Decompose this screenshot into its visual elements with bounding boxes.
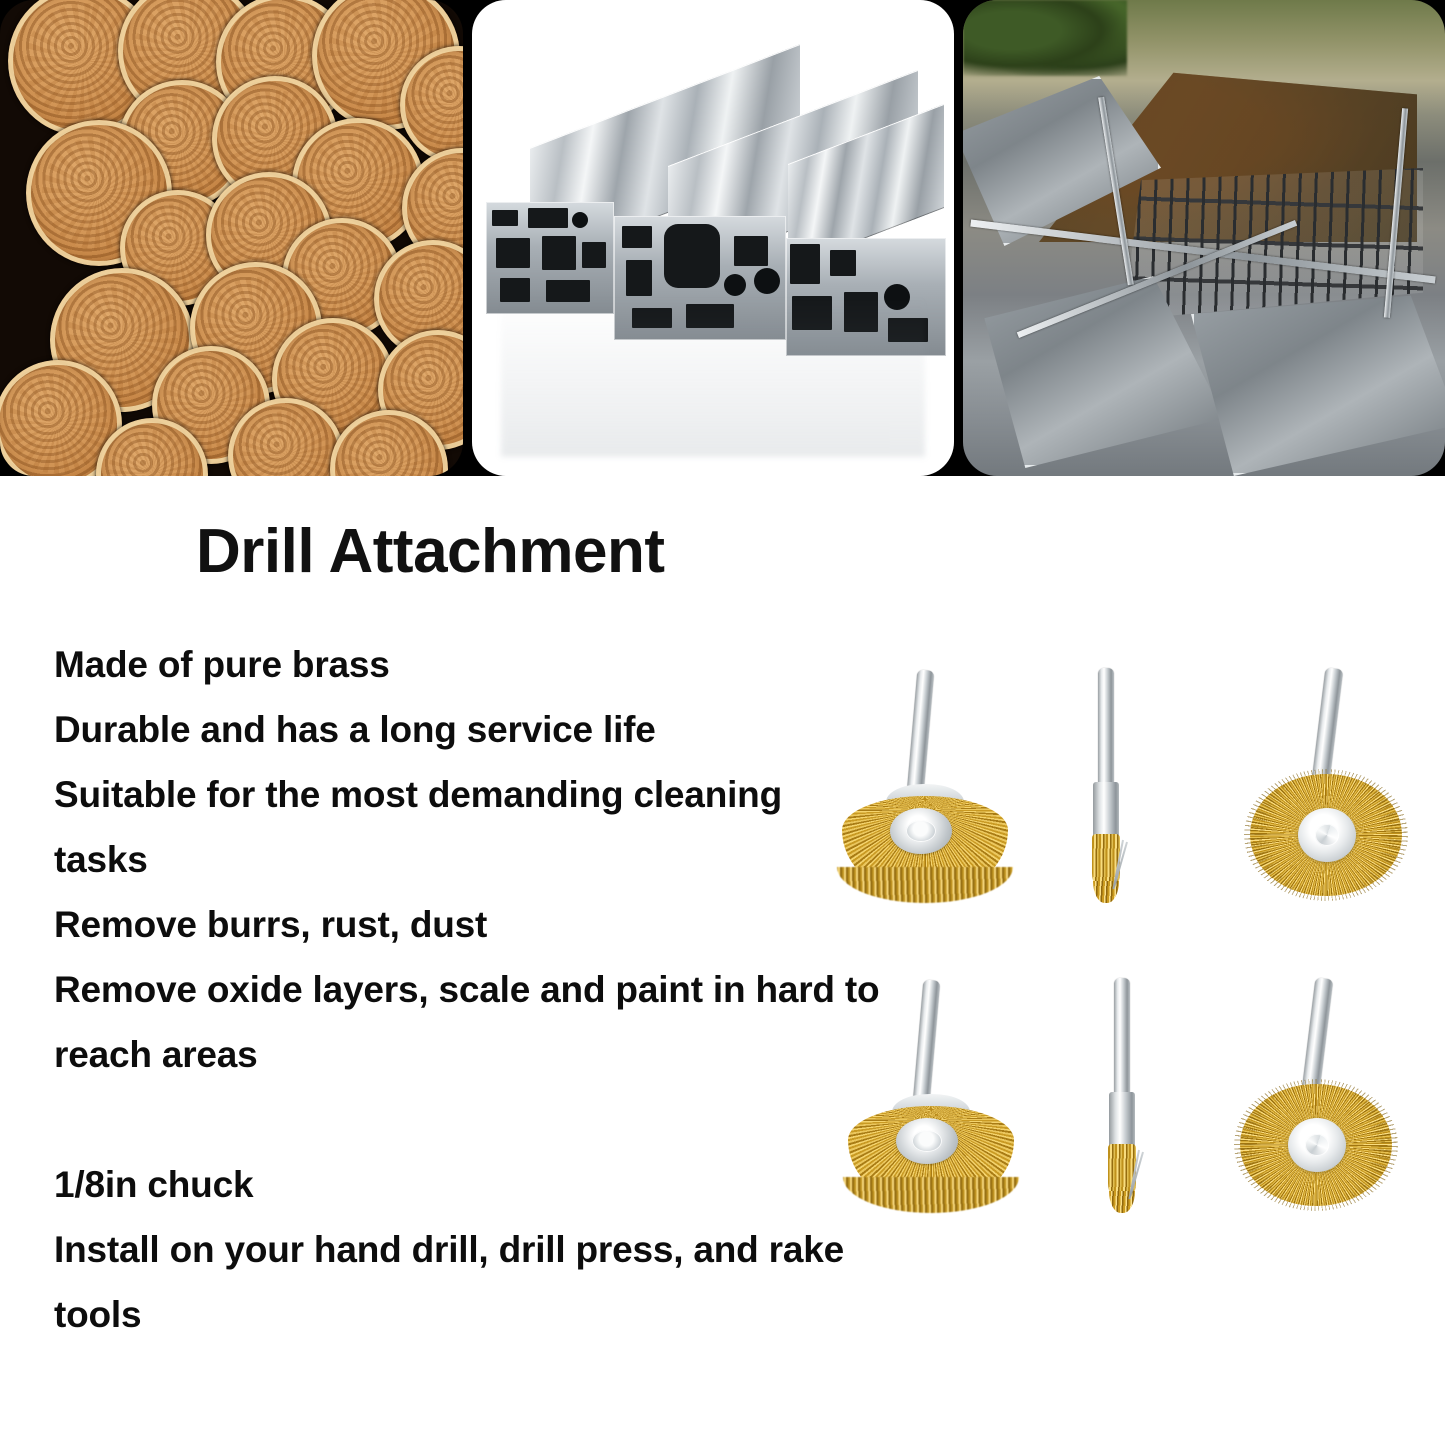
- application-photo-strip: [0, 0, 1445, 476]
- feature-line: Install on your hand drill, drill press,…: [54, 1217, 874, 1282]
- feature-line: tasks: [54, 827, 874, 892]
- feature-line: tools: [54, 1282, 874, 1347]
- feature-line: Durable and has a long service life: [54, 697, 874, 762]
- shank-icon: [913, 979, 941, 1104]
- shank-icon: [1098, 668, 1114, 790]
- feature-line: Made of pure brass: [54, 632, 874, 697]
- feature-line: Suitable for the most demanding cleaning: [54, 762, 874, 827]
- hub-icon: [1288, 1118, 1346, 1172]
- brush-wheel-bottom: [1234, 978, 1420, 1208]
- feature-list-primary: Made of pure brass Durable and has a lon…: [54, 632, 874, 1087]
- photo-panel-aluminium-extrusion: [472, 0, 954, 476]
- brush-cup-top: [824, 668, 1024, 898]
- page-title: Drill Attachment: [196, 521, 665, 583]
- brush-pen-bottom: [1082, 978, 1178, 1208]
- feature-line: Remove oxide layers, scale and paint in …: [54, 957, 874, 1022]
- product-infographic: Drill Attachment Made of pure brass Dura…: [0, 0, 1445, 1445]
- brush-pen-top: [1066, 668, 1162, 898]
- shank-icon: [1114, 978, 1130, 1100]
- ferrule-icon: [1109, 1092, 1135, 1148]
- feature-list-secondary: 1/8in chuck Install on your hand drill, …: [54, 1152, 874, 1347]
- hub-icon: [890, 808, 952, 854]
- photo-panel-bbq-grill: [963, 0, 1445, 476]
- brush-cup-bottom: [830, 978, 1030, 1208]
- photo-panel-logs: [0, 0, 463, 476]
- feature-line: 1/8in chuck: [54, 1152, 874, 1217]
- hub-icon: [1298, 808, 1356, 862]
- feature-line: Remove burrs, rust, dust: [54, 892, 874, 957]
- brush-wheel-top: [1244, 668, 1430, 898]
- shank-icon: [907, 669, 935, 794]
- ferrule-icon: [1093, 782, 1119, 838]
- hub-icon: [896, 1118, 958, 1164]
- feature-line: reach areas: [54, 1022, 874, 1087]
